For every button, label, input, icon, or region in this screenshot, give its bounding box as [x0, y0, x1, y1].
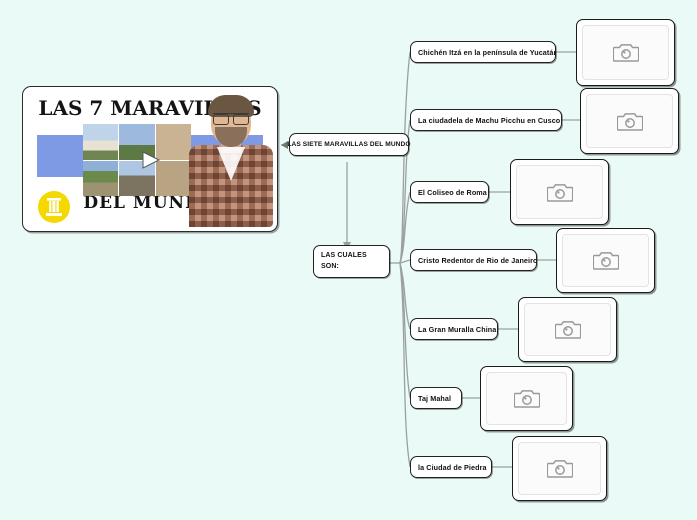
- wonder-image-card-3[interactable]: [510, 159, 609, 225]
- wonder-node-7[interactable]: la Ciudad de Piedra: [410, 456, 492, 478]
- subnode-las-cuales-son[interactable]: LAS CUALES SON:: [313, 245, 390, 278]
- wonder-node-2[interactable]: La ciudadela de Machu Picchu en Cusco: [410, 109, 562, 131]
- wonder-node-5[interactable]: La Gran Muralla China: [410, 318, 498, 340]
- wonder-image-card-2[interactable]: [580, 88, 679, 154]
- wonder-label-6: Taj Mahal: [418, 394, 451, 403]
- mindmap-canvas: LAS 7 MARAVILLAS DEL MUNDO: [0, 0, 697, 520]
- image-placeholder-6: [486, 372, 567, 425]
- image-placeholder-4: [562, 234, 649, 287]
- wonder-node-1[interactable]: Chichén Itzá en la península de Yucatán: [410, 41, 556, 63]
- wonder-node-4[interactable]: Cristo Redentor de Rio de Janeiro: [410, 249, 537, 271]
- wonder-node-3[interactable]: El Coliseo de Roma: [410, 181, 489, 203]
- collage-photo-taj: [83, 124, 118, 160]
- camera-icon: [617, 111, 643, 132]
- play-icon[interactable]: [131, 147, 169, 173]
- image-placeholder-1: [582, 25, 669, 80]
- edge-branch-3: [400, 192, 410, 263]
- wonder-image-card-6[interactable]: [480, 366, 573, 431]
- wonder-label-4: Cristo Redentor de Rio de Janeiro: [418, 256, 537, 265]
- edge-branch-5: [400, 263, 410, 329]
- wonder-image-card-4[interactable]: [556, 228, 655, 293]
- camera-icon: [593, 250, 619, 271]
- edge-branch-7: [400, 263, 410, 467]
- wonder-image-card-1[interactable]: [576, 19, 675, 86]
- presenter-beard: [215, 127, 247, 147]
- video-thumbnail-image: LAS 7 MARAVILLAS DEL MUNDO: [27, 91, 273, 227]
- image-placeholder-5: [524, 303, 611, 356]
- wonder-image-card-7[interactable]: [512, 436, 607, 501]
- column-pillar-glyph: [45, 197, 63, 217]
- wonder-label-5: La Gran Muralla China: [418, 325, 496, 334]
- image-placeholder-2: [586, 94, 673, 148]
- edge-branch-4: [400, 260, 410, 263]
- camera-icon: [555, 319, 581, 340]
- wonder-label-7: la Ciudad de Piedra: [418, 463, 487, 472]
- camera-icon: [547, 182, 573, 203]
- subnode-label: LAS CUALES SON:: [321, 251, 382, 271]
- camera-icon: [613, 42, 639, 63]
- wonder-image-card-5[interactable]: [518, 297, 617, 362]
- wonder-node-6[interactable]: Taj Mahal: [410, 387, 462, 409]
- wonder-label-3: El Coliseo de Roma: [418, 188, 487, 197]
- column-pillar-icon: [38, 191, 70, 223]
- camera-icon: [547, 458, 573, 479]
- edge-branch-6: [400, 263, 410, 398]
- camera-icon: [514, 388, 540, 409]
- root-node-label: LAS SIETE MARAVILLAS DEL MUNDO: [287, 141, 410, 148]
- video-thumbnail-card[interactable]: LAS 7 MARAVILLAS DEL MUNDO: [22, 86, 278, 232]
- root-node[interactable]: LAS SIETE MARAVILLAS DEL MUNDO: [289, 133, 409, 156]
- presenter-glasses: [213, 113, 249, 123]
- presenter-photo: [187, 91, 273, 227]
- wonder-label-1: Chichén Itzá en la península de Yucatán: [418, 48, 556, 57]
- wonder-label-2: La ciudadela de Machu Picchu en Cusco: [418, 116, 560, 125]
- image-placeholder-3: [516, 165, 603, 219]
- edge-branch-1: [400, 52, 410, 263]
- collage-photo-muralla: [83, 161, 118, 197]
- image-placeholder-7: [518, 442, 601, 495]
